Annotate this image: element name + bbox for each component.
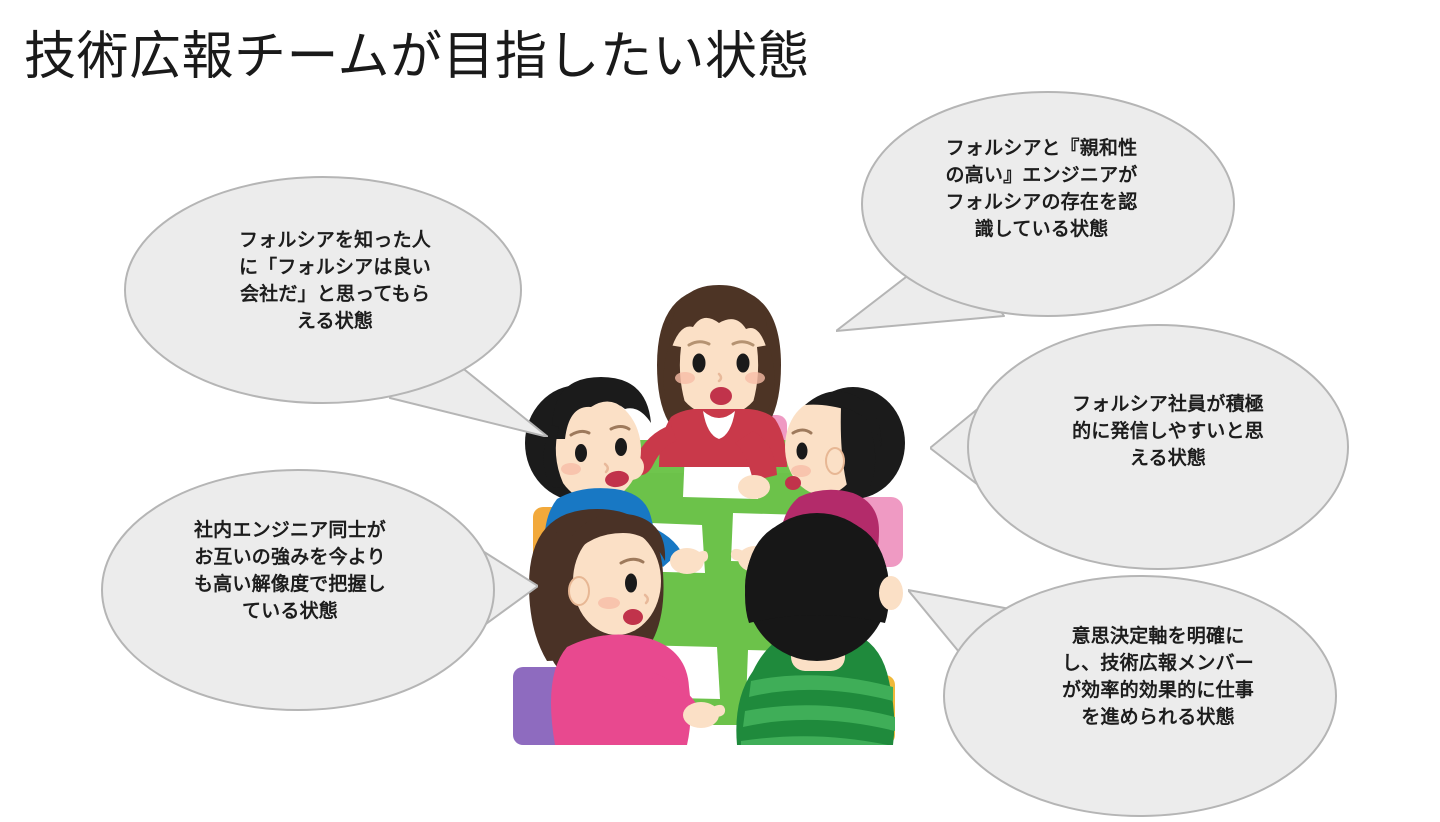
speech-bubble-employees-share-text: フォルシア社員が積極 的に発信しやすいと思 える状態 xyxy=(1028,392,1308,473)
speech-bubble-internal-strengths-text: 社内エンジニア同士が お互いの強みを今より も高い解像度で把握し ている状態 xyxy=(150,518,430,626)
hand xyxy=(683,702,719,728)
hand xyxy=(670,548,704,574)
speech-bubble-known-company: フォルシアを知った人 に「フォルシアは良い 会社だ」と思ってもら える状態 xyxy=(118,172,548,437)
speech-bubble-known-company-text: フォルシアを知った人 に「フォルシアは良い 会社だ」と思ってもら える状態 xyxy=(190,228,480,336)
speech-bubble-affinity-engineers-text: フォルシアと『親和性 の高い』エンジニアが フォルシアの存在を認 識している状態 xyxy=(914,136,1169,244)
speech-bubble-decision-axis-text: 意思決定軸を明確に し、技術広報メンバー が効率的効果的に仕事 を進められる状態 xyxy=(1018,624,1298,732)
hand xyxy=(738,475,770,499)
person-green-stripe-top xyxy=(736,513,903,745)
speech-bubble-decision-axis: 意思決定軸を明確に し、技術広報メンバー が効率的効果的に仕事 を進められる状態 xyxy=(908,572,1348,822)
page-title: 技術広報チームが目指したい状態 xyxy=(24,28,810,88)
speech-bubble-affinity-engineers: フォルシアと『親和性 の高い』エンジニアが フォルシアの存在を認 識している状態 xyxy=(836,88,1236,353)
slide-canvas: 技術広報チームが目指したい状態 xyxy=(0,0,1440,814)
speech-bubble-internal-strengths: 社内エンジニア同士が お互いの強みを今より も高い解像度で把握し ている状態 xyxy=(98,468,538,718)
speech-bubble-employees-share: フォルシア社員が積極 的に発信しやすいと思 える状態 xyxy=(930,322,1350,572)
